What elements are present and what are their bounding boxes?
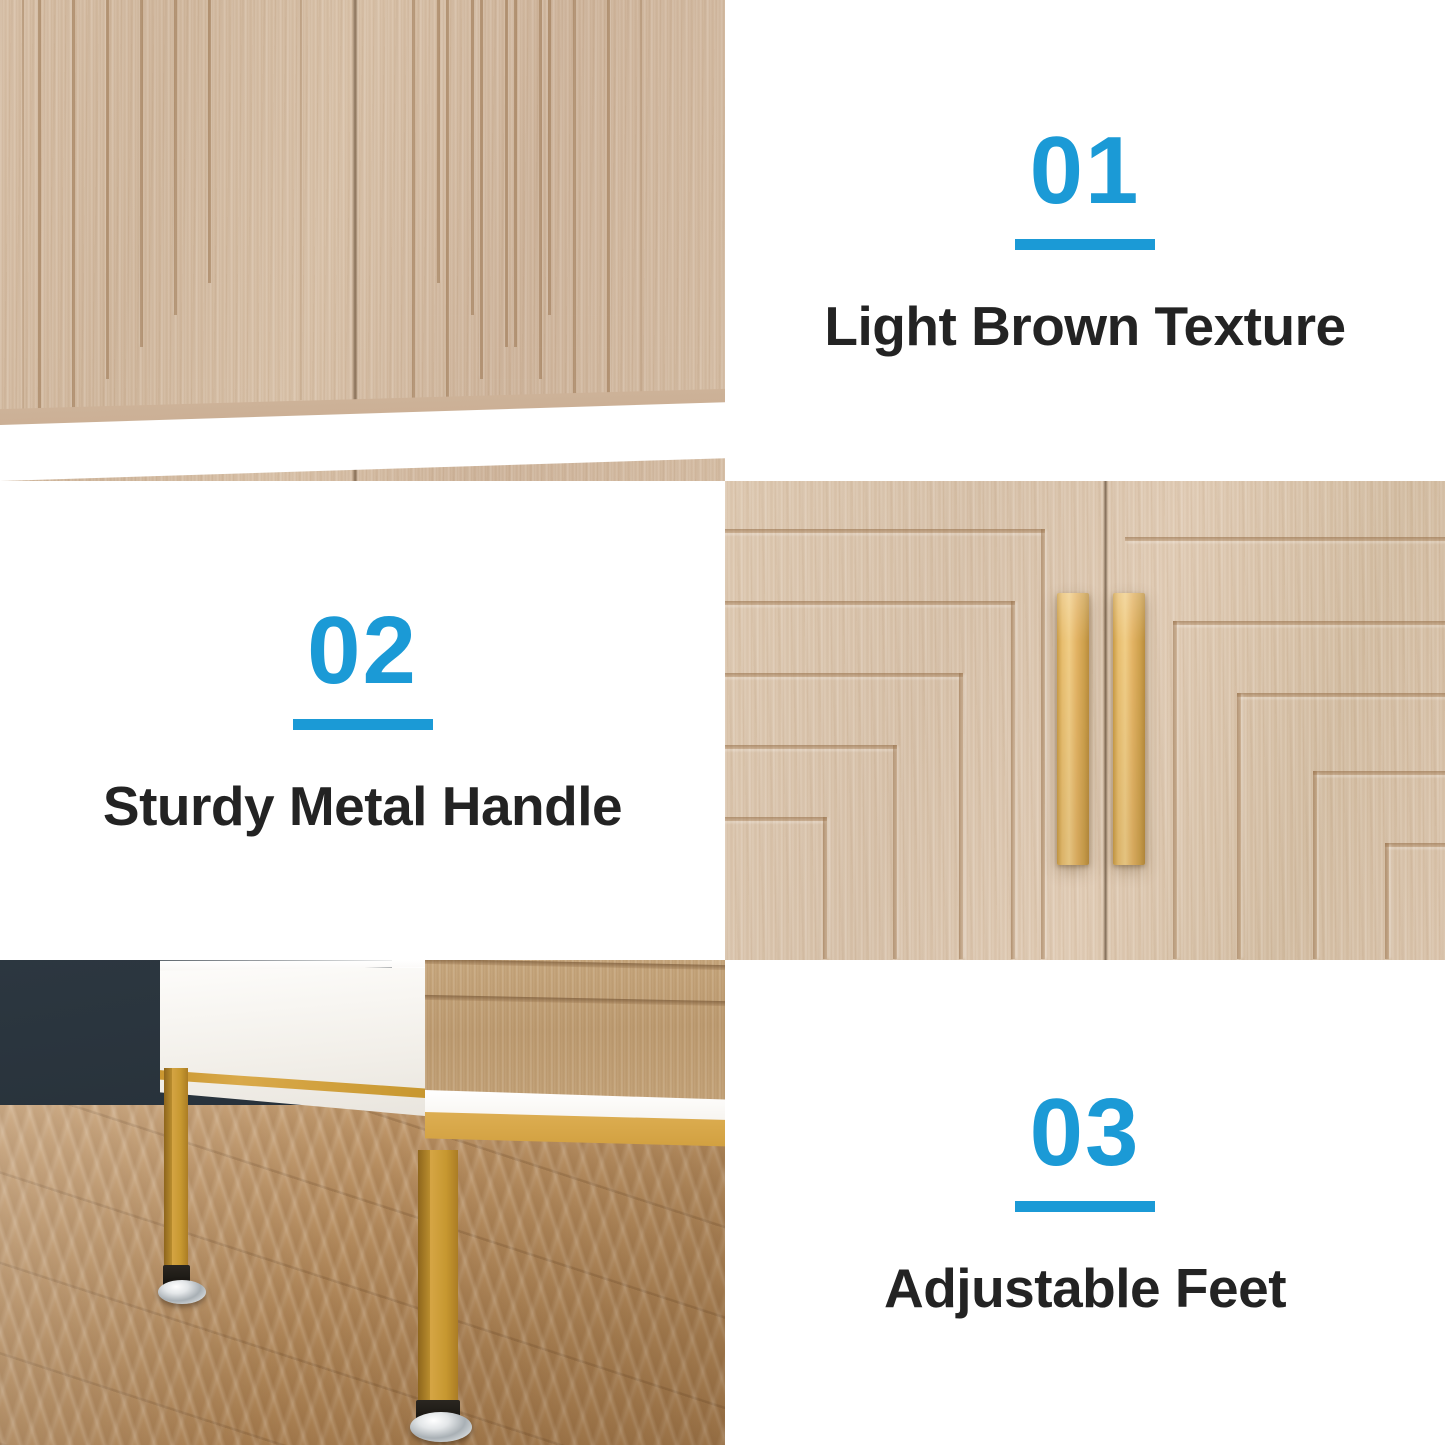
feature-caption-02: 02 Sturdy Metal Handle	[0, 481, 725, 960]
handle-panel-groove	[1313, 771, 1317, 959]
handle-panel-groove	[725, 529, 1045, 533]
handle-panel-groove	[725, 673, 963, 677]
handle-panel-groove	[823, 817, 827, 959]
feature-title-02: Sturdy Metal Handle	[103, 774, 622, 838]
gold-handle-right	[1113, 593, 1145, 865]
feature-title-01: Light Brown Texture	[824, 294, 1345, 358]
handle-panel-groove	[725, 817, 827, 821]
cabinet-wood-door	[425, 960, 725, 1100]
handle-panel-groove	[1385, 843, 1389, 959]
handle-panel-groove	[893, 745, 897, 959]
grain-line	[22, 0, 24, 420]
feature-underline-03	[1015, 1201, 1155, 1212]
grain-line	[640, 0, 642, 430]
feature-caption-01: 01 Light Brown Texture	[725, 0, 1445, 481]
feature-caption-03: 03 Adjustable Feet	[725, 960, 1445, 1445]
handle-panel-groove	[1125, 537, 1445, 541]
feature-title-03: Adjustable Feet	[884, 1256, 1286, 1320]
door-groove-6-left	[208, 0, 440, 283]
door-groove	[425, 960, 725, 970]
handle-panel-groove	[1011, 601, 1015, 959]
handle-panel-groove	[1313, 771, 1445, 775]
handle-panel-groove	[1237, 693, 1445, 697]
door-groove-5-right	[548, 0, 725, 315]
gold-handle-photo	[725, 481, 1445, 960]
handle-panel-groove	[1173, 621, 1177, 959]
feature-number-03: 03	[1030, 1085, 1141, 1193]
herringbone-floor	[0, 1105, 725, 1445]
feature-number-02: 02	[307, 603, 418, 711]
feature-infographic: 01 Light Brown Texture 02 Sturdy Metal H…	[0, 0, 1445, 1445]
handle-panel-groove	[1237, 693, 1241, 959]
handle-panel-groove	[1173, 621, 1445, 625]
handle-panel-groove	[725, 745, 897, 749]
handle-panel-groove	[1041, 529, 1045, 959]
wood-door-texture-photo	[0, 0, 725, 481]
door-seam	[1103, 481, 1108, 960]
adjustable-foot-front	[410, 1412, 472, 1442]
handle-panel-groove	[959, 673, 963, 959]
gold-leg-back-shade	[164, 1068, 172, 1273]
feature-number-01: 01	[1030, 123, 1141, 231]
door-groove	[425, 995, 725, 1006]
handle-panel-groove	[725, 601, 1015, 605]
feature-underline-02	[293, 719, 433, 730]
feature-underline-01	[1015, 239, 1155, 250]
grain-line	[300, 0, 302, 400]
adjustable-foot-back	[158, 1280, 206, 1304]
handle-panel-groove	[1385, 843, 1445, 847]
adjustable-feet-photo	[0, 960, 725, 1445]
gold-leg-front-shade	[418, 1150, 430, 1410]
gold-handle-left	[1057, 593, 1089, 865]
